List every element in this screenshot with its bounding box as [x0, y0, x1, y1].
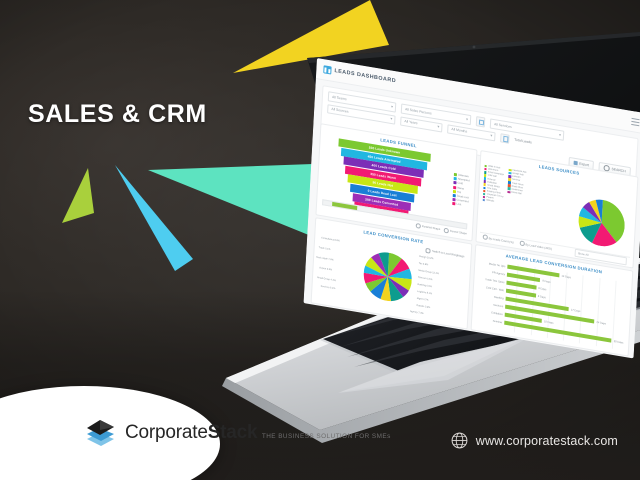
brand-logo: CorporateStack THE BUSINESS SOLUTION FOR… — [84, 418, 391, 448]
bar-value-label: 30 Days — [614, 339, 624, 344]
pie-label: Design 10.2% — [419, 256, 433, 260]
legend-label: Lost — [456, 203, 461, 207]
by-lead-value-option[interactable]: By Lead Value (AED) — [520, 241, 553, 251]
calendar-icon-2[interactable] — [500, 133, 510, 144]
bar-value-label: 24 Days — [596, 320, 606, 325]
pie-label: Telecom 5.5% — [418, 277, 433, 281]
logo-wordmark: CorporateStack THE BUSINESS SOLUTION FOR… — [125, 423, 391, 443]
green-triangle — [62, 168, 102, 228]
pie-label: Trade 5.1% — [319, 247, 331, 251]
checkbox-icon — [426, 248, 431, 254]
pie-label: Logistics 8.1% — [417, 291, 432, 295]
stacked-layers-icon — [84, 418, 116, 448]
funnel-shape-option[interactable]: Funnel Shape — [444, 228, 467, 236]
bar-value-label: 8 Days — [538, 294, 546, 298]
website-footer: www.corporatestack.com — [451, 432, 618, 449]
pie-label: Export 9.3% — [320, 267, 333, 271]
legend-swatch — [453, 173, 456, 177]
pie-label: Real estate 7.6% — [316, 257, 334, 262]
legend-swatch — [483, 199, 486, 202]
legend-label: Direct Mail — [511, 191, 521, 195]
logo-tagline: THE BUSINESS SOLUTION FOR SMEs — [262, 433, 391, 440]
calendar-icon[interactable] — [476, 116, 486, 127]
export-icon — [574, 161, 578, 165]
leads-dashboard-icon — [323, 65, 331, 74]
pyramid-shape-option[interactable]: Pyramid Shape — [416, 223, 440, 232]
legend-label: Website — [486, 200, 494, 203]
pie-label: Mgmt 4.7% — [417, 298, 429, 302]
total-leads-label: Total Leads — [514, 138, 532, 145]
sources-legend: Walk-In VisitWeb FormEmail CampaignCold … — [483, 165, 527, 208]
legend-swatch — [453, 177, 456, 181]
hamburger-menu-icon[interactable] — [631, 117, 639, 125]
legend-label: Cold — [457, 182, 463, 186]
pie-label: Retail Group 4.4% — [317, 277, 336, 282]
sources-legend-col2: Facebook AdsGoogle AdsLinkedInSeminarTra… — [507, 169, 526, 208]
pie-label: Services 6.1% — [321, 286, 336, 290]
pie-label: Tax 3.8% — [419, 263, 429, 267]
sources-legend-col1: Walk-In VisitWeb FormEmail CampaignCold … — [483, 165, 505, 205]
pie-label: Media Group 12.4% — [418, 270, 439, 275]
pie-label: Consultancy 8.2% — [321, 237, 340, 242]
legend-swatch — [508, 191, 511, 194]
legend-swatch — [452, 194, 455, 198]
website-url[interactable]: www.corporatestack.com — [476, 434, 618, 448]
legend-label: Hot — [457, 190, 461, 194]
page-title: SALES & CRM — [28, 100, 207, 129]
bar-value-label: 10 Days — [544, 320, 554, 325]
legend-swatch — [452, 202, 455, 206]
by-leads-count-option[interactable]: By Leads Count (%) — [483, 234, 514, 244]
logo-name: CorporateStack — [125, 422, 257, 443]
legend-swatch — [452, 190, 455, 194]
globe-icon — [451, 432, 468, 449]
sources-pie-chart — [577, 196, 626, 255]
bar-value-label: 17 Days — [571, 308, 581, 313]
bar-category-label: Seminar — [476, 316, 504, 324]
legend-swatch — [453, 185, 456, 189]
legend-swatch — [453, 181, 456, 185]
pie-label: Outside 3.2% — [416, 305, 430, 309]
pie-label: Agency 7.3% — [410, 311, 424, 315]
bar-value-label: 9 Days — [542, 279, 550, 283]
funnel-legend: UnknownAttemptedColdWarmHotDead LostConv… — [452, 173, 470, 209]
legend-swatch — [452, 198, 455, 202]
bar-value-label: 8 Days — [538, 286, 546, 290]
poster-canvas: SALES & CRM — [0, 0, 640, 480]
conversion-pie-chart — [362, 249, 413, 310]
pie-label: Banking 6.9% — [418, 284, 432, 288]
bar-value-label: 14 Days — [561, 274, 571, 279]
dashboard-title: LEADS DASHBOARD — [334, 68, 396, 84]
